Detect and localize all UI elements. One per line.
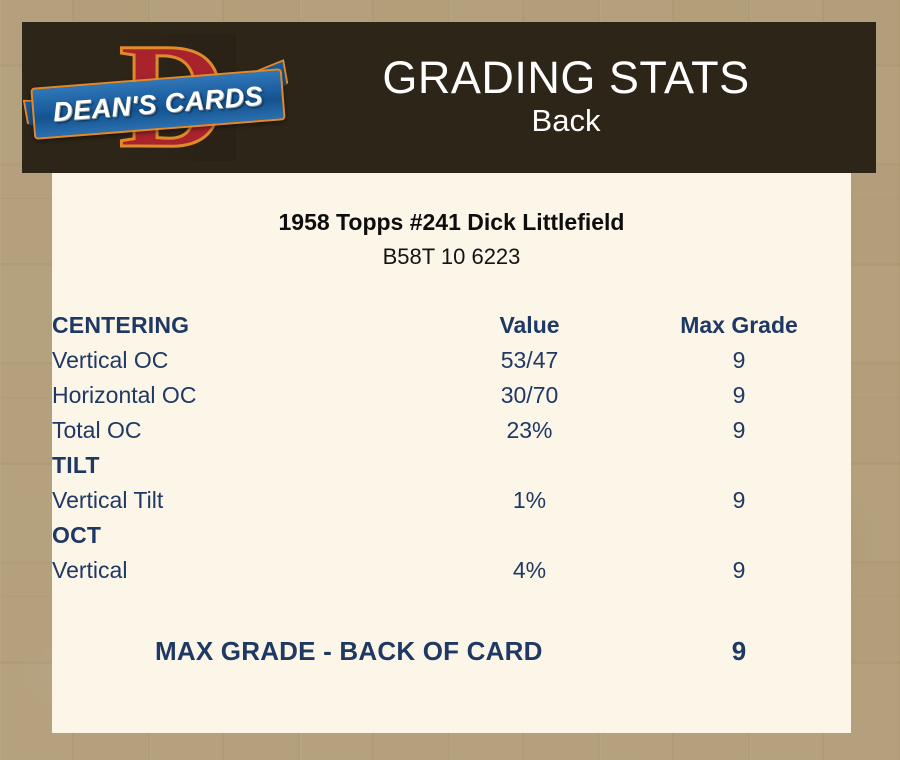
table-row: Horizontal OC30/709 bbox=[52, 378, 851, 413]
table-row: TILT bbox=[52, 448, 851, 483]
page-title: GRADING STATS bbox=[290, 54, 842, 103]
stat-max-grade: 9 bbox=[627, 343, 851, 378]
stat-max-grade: 9 bbox=[627, 553, 851, 588]
table-header-row: CENTERING Value Max Grade bbox=[52, 308, 851, 343]
content-panel: 1958 Topps #241 Dick Littlefield B58T 10… bbox=[52, 173, 851, 733]
stat-max-grade: 9 bbox=[627, 483, 851, 518]
stat-value bbox=[432, 518, 627, 553]
stat-max-grade: 9 bbox=[627, 413, 851, 448]
section-header: OCT bbox=[52, 518, 432, 553]
card-title: 1958 Topps #241 Dick Littlefield bbox=[52, 209, 851, 236]
stat-value bbox=[432, 448, 627, 483]
stat-label: Vertical OC bbox=[52, 343, 432, 378]
stat-value: 53/47 bbox=[432, 343, 627, 378]
header-bar: D DEAN'S CARDS GRADING STATS Back bbox=[22, 22, 876, 173]
stat-value: 4% bbox=[432, 553, 627, 588]
stat-label: Vertical bbox=[52, 553, 432, 588]
table-row: Total OC23%9 bbox=[52, 413, 851, 448]
column-header-value: Value bbox=[432, 308, 627, 343]
header-titles: GRADING STATS Back bbox=[290, 54, 876, 141]
stat-value: 1% bbox=[432, 483, 627, 518]
stat-max-grade bbox=[627, 518, 851, 553]
max-grade-summary-value: 9 bbox=[627, 636, 851, 667]
card-identifier: B58T 10 6223 bbox=[52, 244, 851, 270]
column-header-centering: CENTERING bbox=[52, 308, 432, 343]
table-row: OCT bbox=[52, 518, 851, 553]
stat-label: Total OC bbox=[52, 413, 432, 448]
max-grade-summary-row: MAX GRADE - BACK OF CARD 9 bbox=[52, 636, 851, 667]
max-grade-summary-label: MAX GRADE - BACK OF CARD bbox=[52, 636, 627, 667]
stat-max-grade: 9 bbox=[627, 378, 851, 413]
stat-value: 30/70 bbox=[432, 378, 627, 413]
page-subtitle: Back bbox=[290, 102, 842, 141]
section-header: TILT bbox=[52, 448, 432, 483]
grading-stats-table: CENTERING Value Max Grade Vertical OC53/… bbox=[52, 308, 851, 588]
deans-cards-logo: D DEAN'S CARDS bbox=[22, 22, 290, 173]
table-row: Vertical OC53/479 bbox=[52, 343, 851, 378]
table-head: CENTERING Value Max Grade bbox=[52, 308, 851, 343]
stat-label: Horizontal OC bbox=[52, 378, 432, 413]
stat-value: 23% bbox=[432, 413, 627, 448]
stat-label: Vertical Tilt bbox=[52, 483, 432, 518]
logo-ribbon: DEAN'S CARDS bbox=[30, 68, 285, 140]
stat-max-grade bbox=[627, 448, 851, 483]
column-header-max-grade: Max Grade bbox=[627, 308, 851, 343]
table-body: Vertical OC53/479Horizontal OC30/709Tota… bbox=[52, 343, 851, 588]
logo-ribbon-text: DEAN'S CARDS bbox=[52, 80, 264, 127]
table-row: Vertical Tilt1%9 bbox=[52, 483, 851, 518]
table-row: Vertical4%9 bbox=[52, 553, 851, 588]
